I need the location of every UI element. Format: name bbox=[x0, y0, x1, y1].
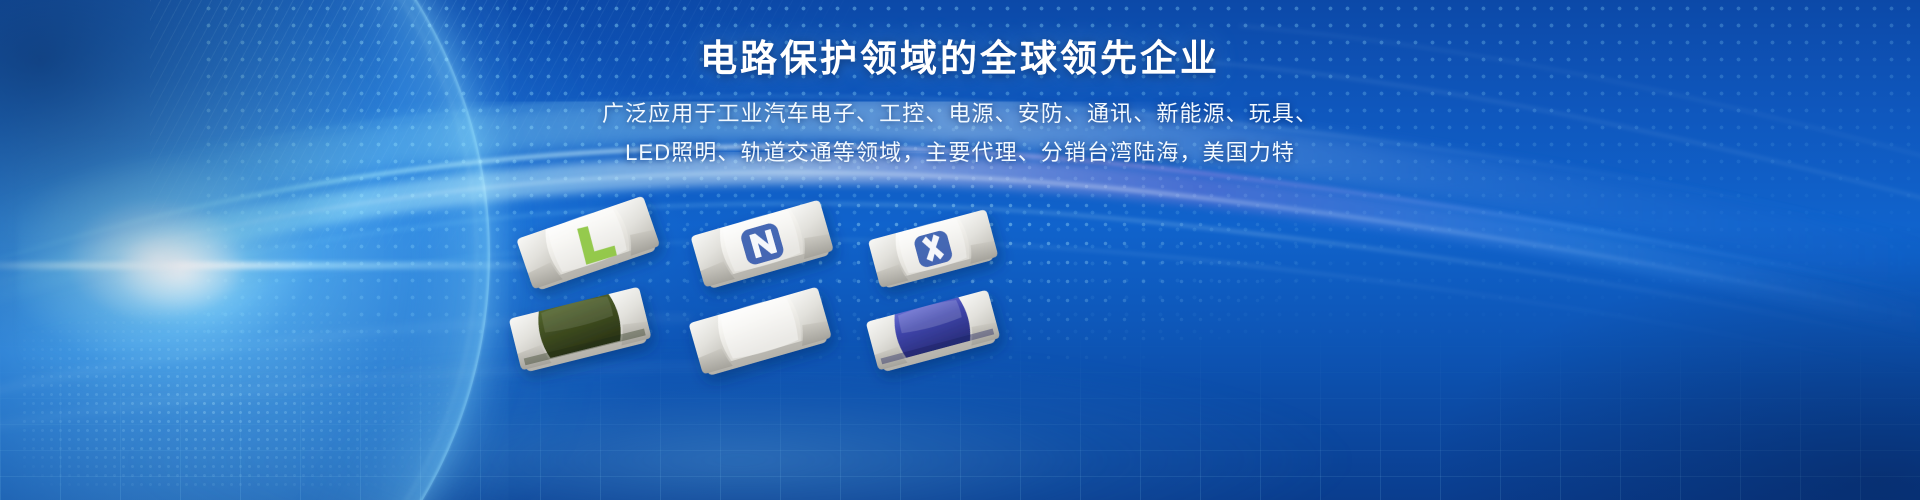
smd-fuse-n-badge bbox=[690, 199, 834, 290]
banner-subtitle-line-1: 广泛应用于工业汽车电子、工控、电源、安防、通讯、新能源、玩具、 bbox=[0, 95, 1920, 134]
banner-headline: 电路保护领域的全球领先企业 bbox=[0, 36, 1920, 82]
smd-fuse-violet-body bbox=[866, 290, 1001, 374]
smd-fuse-x-badge bbox=[868, 209, 999, 290]
smd-fuse-plain-white bbox=[688, 286, 832, 377]
smd-fuse-green-body bbox=[509, 287, 653, 374]
banner-subtitle-group: 广泛应用于工业汽车电子、工控、电源、安防、通讯、新能源、玩具、 LED照明、轨道… bbox=[0, 95, 1920, 172]
smd-fuse-l-mark bbox=[516, 195, 661, 292]
banner-subtitle-line-2: LED照明、轨道交通等领域，主要代理、分销台湾陆海，美国力特 bbox=[0, 134, 1920, 173]
banner-text-block: 电路保护领域的全球领先企业 广泛应用于工业汽车电子、工控、电源、安防、通讯、新能… bbox=[0, 36, 1920, 172]
hero-banner: 电路保护领域的全球领先企业 广泛应用于工业汽车电子、工控、电源、安防、通讯、新能… bbox=[0, 0, 1920, 500]
